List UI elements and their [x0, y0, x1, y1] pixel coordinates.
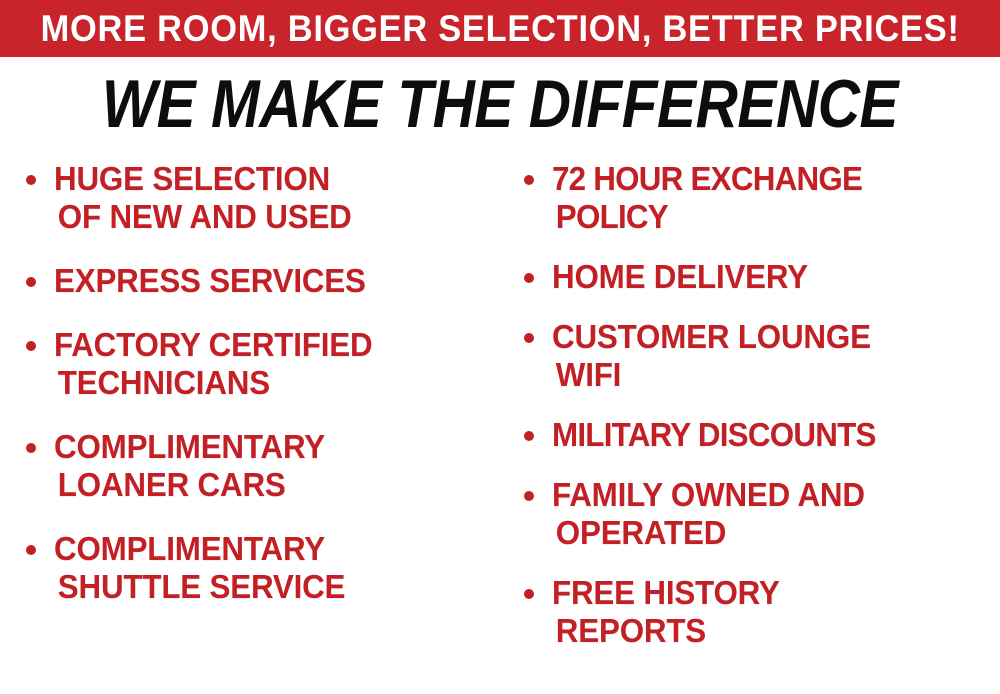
list-item-line2: REPORTS	[556, 612, 978, 650]
list-item: HOME DELIVERY	[512, 258, 1000, 296]
list-item-label: EXPRESS SERVICES	[54, 262, 478, 300]
list-item-line1: FREE HISTORY	[552, 574, 780, 611]
list-item-line1: EXPRESS SERVICES	[54, 262, 366, 299]
bullet-dot-icon	[524, 333, 534, 343]
list-item-label: COMPLIMENTARY LOANER CARS	[54, 428, 478, 504]
list-item: EXPRESS SERVICES	[14, 262, 500, 300]
banner-headline: MORE ROOM, BIGGER SELECTION, BETTER PRIC…	[40, 10, 959, 47]
list-item-line2: LOANER CARS	[58, 466, 478, 504]
benefits-columns: HUGE SELECTION OF NEW AND USED EXPRESS S…	[0, 160, 1000, 680]
list-item: 72 HOUR EXCHANGE POLICY	[512, 160, 1000, 236]
bullet-dot-icon	[524, 431, 534, 441]
list-item: MILITARY DISCOUNTS	[512, 416, 1000, 454]
list-item-label: HOME DELIVERY	[552, 258, 978, 296]
list-item-line1: HOME DELIVERY	[552, 258, 808, 295]
bullet-dot-icon	[524, 491, 534, 501]
list-item-line1: FACTORY CERTIFIED	[54, 326, 372, 363]
bullet-dot-icon	[26, 341, 36, 351]
list-item-line2: OPERATED	[556, 514, 978, 552]
list-item: CUSTOMER LOUNGE WIFI	[512, 318, 1000, 394]
bullet-dot-icon	[26, 443, 36, 453]
list-item-line2: POLICY	[556, 198, 978, 236]
list-item-label: CUSTOMER LOUNGE WIFI	[552, 318, 978, 394]
benefits-column-left: HUGE SELECTION OF NEW AND USED EXPRESS S…	[14, 160, 500, 632]
list-item-label: FACTORY CERTIFIED TECHNICIANS	[54, 326, 478, 402]
list-item-line1: MILITARY DISCOUNTS	[552, 416, 876, 453]
list-item: FACTORY CERTIFIED TECHNICIANS	[14, 326, 500, 402]
list-item-line2: SHUTTLE SERVICE	[58, 568, 478, 606]
list-item: COMPLIMENTARY LOANER CARS	[14, 428, 500, 504]
list-item-label: FAMILY OWNED AND OPERATED	[552, 476, 978, 552]
list-item-line1: CUSTOMER LOUNGE	[552, 318, 871, 355]
bullet-dot-icon	[26, 277, 36, 287]
bullet-dot-icon	[524, 273, 534, 283]
promo-poster: MORE ROOM, BIGGER SELECTION, BETTER PRIC…	[0, 0, 1000, 694]
list-item-line1: 72 HOUR EXCHANGE	[552, 160, 862, 197]
bullet-dot-icon	[26, 545, 36, 555]
list-item-line2: WIFI	[556, 356, 978, 394]
list-item-line2: TECHNICIANS	[58, 364, 478, 402]
list-item: FREE HISTORY REPORTS	[512, 574, 1000, 650]
list-item-line1: HUGE SELECTION	[54, 160, 330, 197]
list-item-label: MILITARY DISCOUNTS	[552, 416, 978, 454]
bullet-dot-icon	[26, 175, 36, 185]
bullet-dot-icon	[524, 175, 534, 185]
list-item-line1: COMPLIMENTARY	[54, 530, 325, 567]
top-banner: MORE ROOM, BIGGER SELECTION, BETTER PRIC…	[0, 0, 1000, 57]
page-title: WE MAKE THE DIFFERENCE	[70, 70, 930, 138]
bullet-dot-icon	[524, 589, 534, 599]
list-item-line1: FAMILY OWNED AND	[552, 476, 865, 513]
list-item-line2: OF NEW AND USED	[58, 198, 478, 236]
list-item: COMPLIMENTARY SHUTTLE SERVICE	[14, 530, 500, 606]
list-item-label: FREE HISTORY REPORTS	[552, 574, 978, 650]
list-item-label: 72 HOUR EXCHANGE POLICY	[552, 160, 978, 236]
benefits-column-right: 72 HOUR EXCHANGE POLICY HOME DELIVERY CU…	[512, 160, 1000, 672]
list-item-label: HUGE SELECTION OF NEW AND USED	[54, 160, 478, 236]
list-item: HUGE SELECTION OF NEW AND USED	[14, 160, 500, 236]
list-item-line1: COMPLIMENTARY	[54, 428, 325, 465]
list-item: FAMILY OWNED AND OPERATED	[512, 476, 1000, 552]
list-item-label: COMPLIMENTARY SHUTTLE SERVICE	[54, 530, 478, 606]
